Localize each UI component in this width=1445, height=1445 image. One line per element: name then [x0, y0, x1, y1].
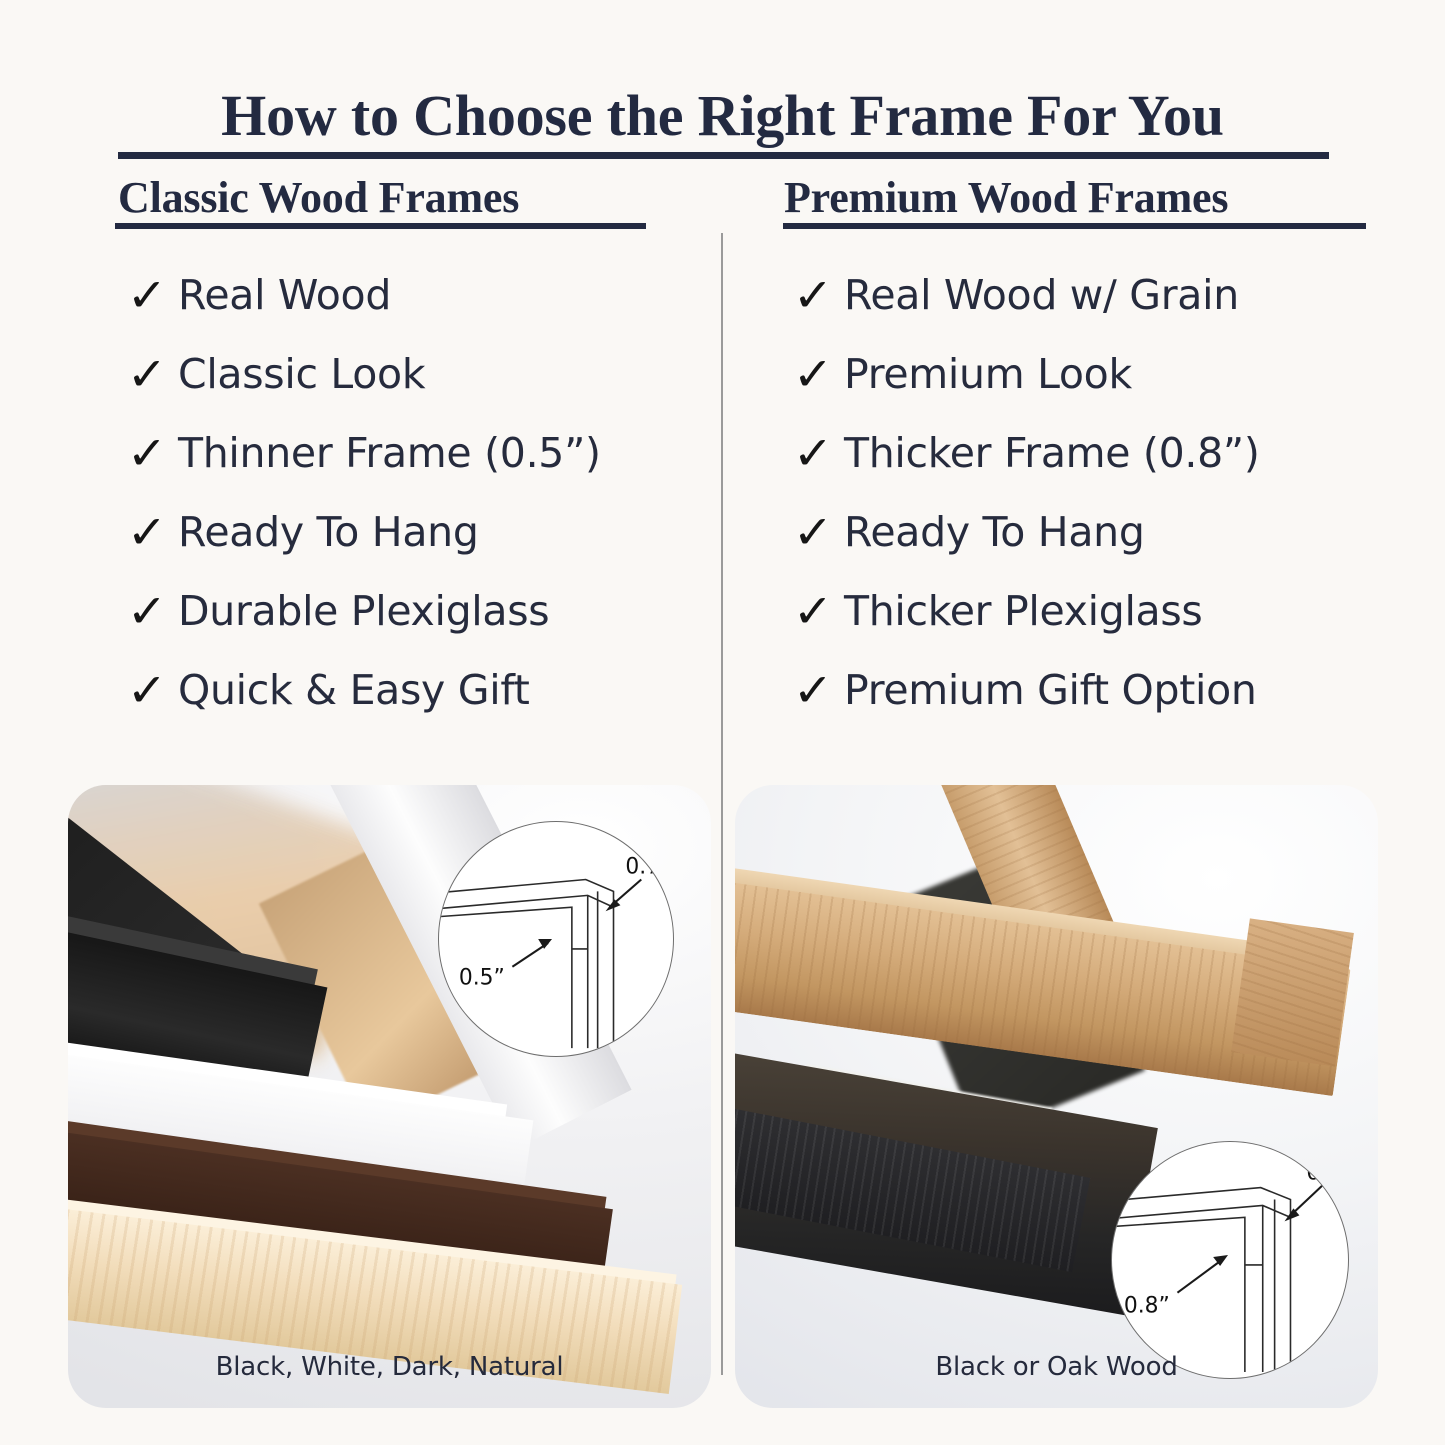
- feature-label: Real Wood: [178, 271, 391, 319]
- check-icon: ✓: [127, 667, 180, 713]
- check-icon: ✓: [127, 272, 180, 318]
- list-item: ✓ Thicker Plexiglass: [794, 571, 1374, 650]
- feature-label: Ready To Hang: [844, 508, 1145, 556]
- photo-panel-classic: 0.75” 0.5” Black, White, Dark, Natural: [68, 785, 711, 1408]
- check-icon: ✓: [793, 667, 846, 713]
- list-item: ✓ Real Wood: [128, 255, 688, 334]
- list-item: ✓ Thinner Frame (0.5”): [128, 413, 688, 492]
- list-item: ✓ Ready To Hang: [128, 492, 688, 571]
- check-icon: ✓: [793, 430, 846, 476]
- frame-profile-diagram-classic: 0.75” 0.5”: [438, 821, 674, 1057]
- check-icon: ✓: [127, 351, 180, 397]
- check-icon: ✓: [793, 351, 846, 397]
- photo-caption-premium: Black or Oak Wood: [735, 1352, 1378, 1382]
- feature-label: Thicker Frame (0.8”): [844, 429, 1260, 477]
- feature-label: Durable Plexiglass: [178, 587, 549, 635]
- column-title-premium: Premium Wood Frames: [784, 172, 1228, 223]
- column-title-classic: Classic Wood Frames: [118, 172, 519, 223]
- photo-panel-premium: 0.8” 0.8” Black or Oak Wood: [735, 785, 1378, 1408]
- check-icon: ✓: [793, 588, 846, 634]
- column-title-premium-underline: [783, 223, 1366, 229]
- check-icon: ✓: [793, 509, 846, 555]
- oak-frame-end-cap: [1231, 918, 1354, 1066]
- infographic-page: How to Choose the Right Frame For You Cl…: [0, 0, 1445, 1445]
- feature-label: Classic Look: [178, 350, 425, 398]
- svg-text:0.8”: 0.8”: [1124, 1294, 1170, 1319]
- page-title-underline: [118, 152, 1329, 159]
- check-icon: ✓: [127, 509, 180, 555]
- list-item: ✓ Ready To Hang: [794, 492, 1374, 571]
- frame-profile-diagram-premium: 0.8” 0.8”: [1111, 1141, 1349, 1379]
- feature-label: Thicker Plexiglass: [844, 587, 1203, 635]
- feature-label: Premium Look: [844, 350, 1132, 398]
- list-item: ✓ Real Wood w/ Grain: [794, 255, 1374, 334]
- feature-label: Ready To Hang: [178, 508, 479, 556]
- feature-label: Quick & Easy Gift: [178, 666, 530, 714]
- check-icon: ✓: [127, 430, 180, 476]
- list-item: ✓ Premium Gift Option: [794, 650, 1374, 729]
- list-item: ✓ Thicker Frame (0.8”): [794, 413, 1374, 492]
- check-icon: ✓: [127, 588, 180, 634]
- feature-label: Real Wood w/ Grain: [844, 271, 1239, 319]
- photo-caption-classic: Black, White, Dark, Natural: [68, 1352, 711, 1382]
- feature-list-classic: ✓ Real Wood ✓ Classic Look ✓ Thinner Fra…: [128, 255, 688, 729]
- column-title-classic-underline: [115, 223, 646, 229]
- svg-text:0.5”: 0.5”: [459, 966, 505, 991]
- list-item: ✓ Durable Plexiglass: [128, 571, 688, 650]
- feature-list-premium: ✓ Real Wood w/ Grain ✓ Premium Look ✓ Th…: [794, 255, 1374, 729]
- list-item: ✓ Quick & Easy Gift: [128, 650, 688, 729]
- list-item: ✓ Premium Look: [794, 334, 1374, 413]
- column-divider: [721, 233, 723, 1375]
- list-item: ✓ Classic Look: [128, 334, 688, 413]
- feature-label: Thinner Frame (0.5”): [178, 429, 601, 477]
- check-icon: ✓: [793, 272, 846, 318]
- page-title: How to Choose the Right Frame For You: [0, 86, 1445, 147]
- feature-label: Premium Gift Option: [844, 666, 1257, 714]
